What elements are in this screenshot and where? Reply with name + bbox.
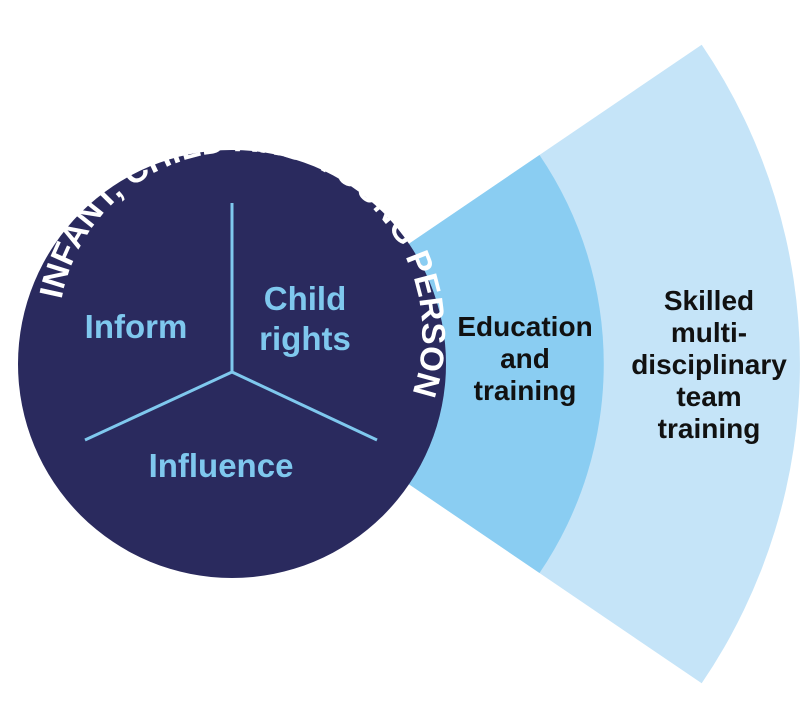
band-label-line: Skilled — [664, 285, 754, 316]
band-label-line: Education — [457, 311, 592, 342]
band-label-line: multi- — [671, 317, 747, 348]
segment-label-child-rights-line1: Child — [264, 280, 346, 317]
diagram-canvas: INFANT, CHILD AND YOUNG PERSON Inform Ch… — [0, 0, 812, 712]
band-label-line: training — [658, 413, 761, 444]
band-label-line: team — [676, 381, 741, 412]
band-label-line: disciplinary — [631, 349, 787, 380]
framework-diagram: INFANT, CHILD AND YOUNG PERSON Inform Ch… — [0, 0, 812, 712]
band-label-line: training — [474, 375, 577, 406]
segment-label-inform: Inform — [85, 308, 188, 345]
band-label-line: and — [500, 343, 550, 374]
segment-label-child-rights-line2: rights — [259, 320, 351, 357]
segment-label-influence: Influence — [149, 447, 294, 484]
